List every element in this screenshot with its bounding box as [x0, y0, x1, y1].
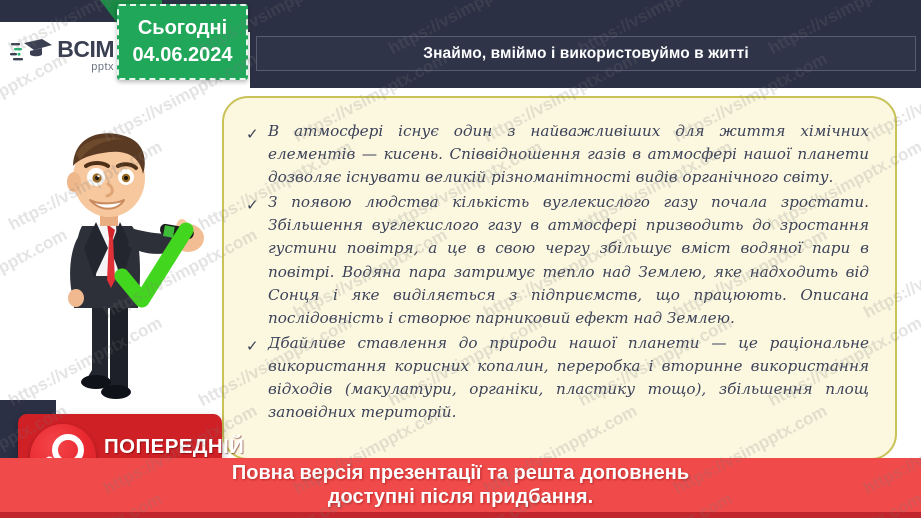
page-title: Знаймо, вміймо і використовуймо в житті	[423, 45, 748, 63]
graduation-cap-icon	[10, 37, 54, 74]
list-item: ✓ Дбайливе ставлення до природи нашої пл…	[246, 332, 869, 424]
preview-badge-line1: ПОПЕРЕДНІЙ	[104, 437, 244, 458]
businessman-illustration	[30, 108, 215, 408]
list-item-text: З появою людства кількість вуглекислого …	[268, 191, 869, 330]
list-item-text: Дбайливе ставлення до природи нашої план…	[268, 332, 869, 424]
bullet-list: ✓ В атмосфері існує один з найважливіших…	[224, 98, 895, 424]
list-item: ✓ В атмосфері існує один з найважливіших…	[246, 120, 869, 189]
header-title-bar: Знаймо, вміймо і використовуймо в житті	[256, 36, 916, 71]
banner-line-2: доступні після придбання.	[328, 485, 593, 509]
date-badge: Сьогодні 04.06.2024	[117, 4, 248, 80]
banner-line-1: Повна версія презентації та решта доповн…	[232, 461, 689, 485]
content-panel: ✓ В атмосфері існує один з найважливіших…	[222, 96, 897, 460]
check-bullet-icon: ✓	[246, 127, 260, 142]
brand-logo[interactable]: BCIM pptx	[0, 22, 118, 88]
list-item-text: В атмосфері існує один з найважливіших д…	[268, 120, 869, 189]
slide-root: BCIM pptx Сьогодні 04.06.2024 Знаймо, вм…	[0, 0, 921, 518]
list-item: ✓ З появою людства кількість вуглекислог…	[246, 191, 869, 330]
bottom-banner: Повна версія презентації та решта доповн…	[0, 458, 921, 518]
check-bullet-icon: ✓	[246, 339, 260, 354]
date-badge-value: 04.06.2024	[132, 44, 232, 67]
date-badge-label: Сьогодні	[138, 17, 227, 40]
logo-name: BCIM	[57, 38, 114, 61]
logo-subtitle: pptx	[91, 62, 114, 73]
check-bullet-icon: ✓	[246, 198, 260, 213]
